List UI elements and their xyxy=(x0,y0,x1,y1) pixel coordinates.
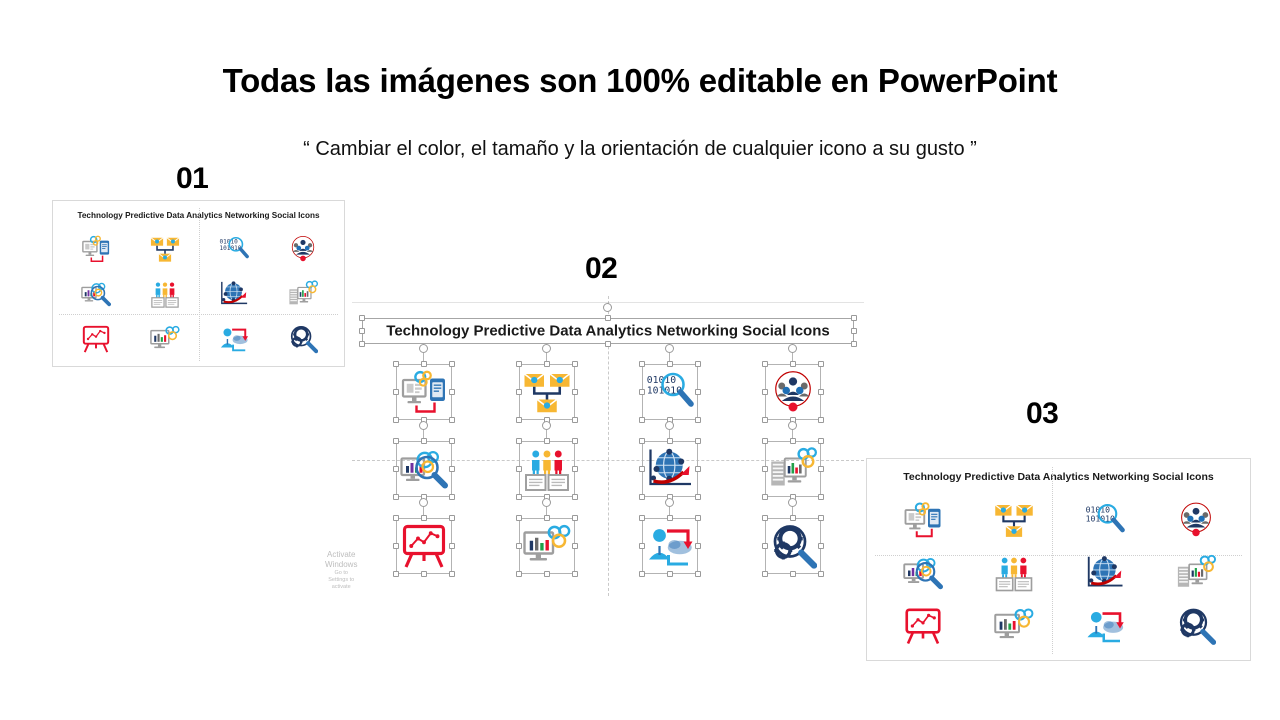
server-analytics-gears-icon xyxy=(1151,546,1242,599)
resize-handle-nw[interactable] xyxy=(516,515,522,521)
resize-handle-s[interactable] xyxy=(421,571,427,577)
people-book-icon[interactable] xyxy=(485,431,608,508)
monitor-mobile-gears-icon xyxy=(877,493,968,546)
rotation-stem xyxy=(669,430,670,438)
resize-handle-nw[interactable] xyxy=(639,361,645,367)
barchart-magnifier-icon xyxy=(877,546,968,599)
resize-handle-sw[interactable] xyxy=(639,571,645,577)
monitor-mobile-gears-icon xyxy=(61,227,130,272)
people-book-icon xyxy=(968,546,1059,599)
resize-handle-sw[interactable] xyxy=(393,571,399,577)
selected-shape[interactable] xyxy=(646,522,694,570)
selected-shape[interactable] xyxy=(523,522,571,570)
resize-handle-w[interactable] xyxy=(639,466,645,472)
panel-title-03: Technology Predictive Data Analytics Net… xyxy=(867,471,1250,483)
resize-handle-se[interactable] xyxy=(572,494,578,500)
resize-handle-se[interactable] xyxy=(572,417,578,423)
step-number-03: 03 xyxy=(1026,397,1058,431)
resize-handle-sw[interactable] xyxy=(516,417,522,423)
people-book-icon xyxy=(130,272,199,317)
selected-shape[interactable] xyxy=(769,445,817,493)
resize-handle-nw[interactable] xyxy=(516,438,522,444)
resize-handle-se[interactable] xyxy=(695,571,701,577)
rotation-handle[interactable] xyxy=(419,498,428,507)
binary-data-magnifier-icon: 01010 101010 xyxy=(1060,493,1151,546)
selected-shape[interactable]: 01010 101010 xyxy=(646,368,694,416)
rotation-handle[interactable] xyxy=(788,498,797,507)
selected-shape[interactable] xyxy=(400,522,448,570)
barchart-magnifier-icon[interactable] xyxy=(362,431,485,508)
barchart-magnifier-icon xyxy=(61,272,130,317)
resize-handle-e[interactable] xyxy=(572,389,578,395)
page-title: Todas las imágenes son 100% editable en … xyxy=(0,62,1280,100)
selected-shape[interactable] xyxy=(769,368,817,416)
rotation-handle[interactable] xyxy=(542,344,551,353)
resize-handle-ne[interactable] xyxy=(818,515,824,521)
resize-handle-sw[interactable] xyxy=(516,571,522,577)
resize-handle-ne[interactable] xyxy=(818,361,824,367)
rotation-handle[interactable] xyxy=(542,498,551,507)
resize-handle-e[interactable] xyxy=(449,466,455,472)
resize-handle-w[interactable] xyxy=(393,466,399,472)
step-number-02: 02 xyxy=(585,252,617,286)
resize-handle-nw[interactable] xyxy=(393,515,399,521)
icon-grid-03: 01010 101010 xyxy=(877,493,1242,653)
rotation-handle[interactable] xyxy=(419,421,428,430)
resize-handle-sw[interactable] xyxy=(762,571,768,577)
resize-handle-n[interactable] xyxy=(667,515,673,521)
resize-handle-e[interactable] xyxy=(449,543,455,549)
rotation-stem xyxy=(669,353,670,361)
resize-handle-ne[interactable] xyxy=(818,438,824,444)
icon-grid-01: 01010 101010 xyxy=(61,227,338,361)
server-analytics-gears-icon[interactable] xyxy=(731,431,854,508)
resize-handle-se[interactable] xyxy=(851,341,857,347)
resize-handle-n[interactable] xyxy=(667,438,673,444)
resize-handle-sw[interactable] xyxy=(393,494,399,500)
rotation-handle[interactable] xyxy=(419,344,428,353)
resize-handle-sw[interactable] xyxy=(516,494,522,500)
resize-handle-s[interactable] xyxy=(790,571,796,577)
resize-handle-sw[interactable] xyxy=(393,417,399,423)
binary-data-magnifier-icon[interactable]: 01010 101010 xyxy=(608,354,731,431)
resize-handle-e[interactable] xyxy=(695,543,701,549)
rotation-stem xyxy=(423,430,424,438)
resize-handle-ne[interactable] xyxy=(695,361,701,367)
resize-handle-w[interactable] xyxy=(516,466,522,472)
rotation-stem xyxy=(546,507,547,515)
resize-handle-nw[interactable] xyxy=(516,361,522,367)
icon-panel-preview-03[interactable]: Technology Predictive Data Analytics Net… xyxy=(866,458,1251,661)
resize-handle-ne[interactable] xyxy=(572,438,578,444)
resize-handle-ne[interactable] xyxy=(851,315,857,321)
rotation-handle[interactable] xyxy=(603,303,612,312)
resize-handle-se[interactable] xyxy=(449,494,455,500)
selected-shape[interactable] xyxy=(769,522,817,570)
businessman-cloud-icon xyxy=(200,316,269,361)
resize-handle-nw[interactable] xyxy=(393,361,399,367)
resize-handle-s[interactable] xyxy=(605,341,611,347)
rotation-handle[interactable] xyxy=(665,344,674,353)
resize-handle-se[interactable] xyxy=(695,494,701,500)
icon-panel-editing-02[interactable]: Technology Predictive Data Analytics Net… xyxy=(352,296,864,596)
resize-handle-w[interactable] xyxy=(639,543,645,549)
resize-handle-ne[interactable] xyxy=(572,361,578,367)
gears-magnifier-icon xyxy=(269,316,338,361)
resize-handle-sw[interactable] xyxy=(762,417,768,423)
rotation-stem xyxy=(546,430,547,438)
resize-handle-s[interactable] xyxy=(667,571,673,577)
resize-handle-w[interactable] xyxy=(762,466,768,472)
resize-handle-se[interactable] xyxy=(818,417,824,423)
resize-handle-ne[interactable] xyxy=(695,438,701,444)
selected-title-textbox[interactable]: Technology Predictive Data Analytics Net… xyxy=(362,318,854,344)
resize-handle-e[interactable] xyxy=(695,389,701,395)
resize-handle-w[interactable] xyxy=(393,389,399,395)
rotation-stem xyxy=(792,353,793,361)
resize-handle-e[interactable] xyxy=(818,466,824,472)
resize-handle-e[interactable] xyxy=(572,466,578,472)
selected-shape[interactable] xyxy=(523,445,571,493)
resize-handle-sw[interactable] xyxy=(639,417,645,423)
resize-handle-ne[interactable] xyxy=(449,515,455,521)
globe-growth-chart-icon[interactable] xyxy=(608,431,731,508)
businessman-cloud-icon[interactable] xyxy=(608,507,731,584)
icon-grid-02: 01010 101010 xyxy=(362,354,854,584)
resize-handle-e[interactable] xyxy=(572,543,578,549)
team-target-icon xyxy=(1151,493,1242,546)
monitor-mobile-gears-icon[interactable] xyxy=(362,354,485,431)
team-target-icon[interactable] xyxy=(731,354,854,431)
rotation-stem xyxy=(669,507,670,515)
resize-handle-se[interactable] xyxy=(449,417,455,423)
resize-handle-se[interactable] xyxy=(449,571,455,577)
gears-magnifier-icon[interactable] xyxy=(731,507,854,584)
rotation-stem xyxy=(546,353,547,361)
rotation-handle[interactable] xyxy=(788,421,797,430)
resize-handle-se[interactable] xyxy=(572,571,578,577)
easel-line-chart-icon xyxy=(61,316,130,361)
email-network-icon[interactable] xyxy=(485,354,608,431)
resize-handle-se[interactable] xyxy=(818,494,824,500)
gears-magnifier-icon xyxy=(1151,600,1242,653)
monitor-bars-gears-icon xyxy=(130,316,199,361)
resize-handle-ne[interactable] xyxy=(572,515,578,521)
rotation-stem xyxy=(423,353,424,361)
resize-handle-w[interactable] xyxy=(762,389,768,395)
team-target-icon xyxy=(269,227,338,272)
resize-handle-nw[interactable] xyxy=(762,438,768,444)
resize-handle-n[interactable] xyxy=(790,361,796,367)
resize-handle-w[interactable] xyxy=(516,389,522,395)
rotation-stem xyxy=(792,430,793,438)
rotation-handle[interactable] xyxy=(542,421,551,430)
email-network-icon xyxy=(968,493,1059,546)
resize-handle-nw[interactable] xyxy=(762,515,768,521)
resize-handle-n[interactable] xyxy=(790,515,796,521)
rotation-handle[interactable] xyxy=(665,498,674,507)
resize-handle-ne[interactable] xyxy=(695,515,701,521)
easel-line-chart-icon xyxy=(877,600,968,653)
resize-handle-n[interactable] xyxy=(544,515,550,521)
resize-handle-ne[interactable] xyxy=(449,361,455,367)
resize-handle-n[interactable] xyxy=(544,438,550,444)
resize-handle-w[interactable] xyxy=(393,543,399,549)
binary-data-magnifier-icon: 01010 101010 xyxy=(200,227,269,272)
resize-handle-e[interactable] xyxy=(818,543,824,549)
resize-handle-n[interactable] xyxy=(790,438,796,444)
selected-shape[interactable] xyxy=(523,368,571,416)
resize-handle-n[interactable] xyxy=(605,315,611,321)
resize-handle-s[interactable] xyxy=(544,571,550,577)
email-network-icon xyxy=(130,227,199,272)
icon-panel-preview-01[interactable]: Technology Predictive Data Analytics Net… xyxy=(52,200,345,367)
resize-handle-w[interactable] xyxy=(359,328,365,334)
resize-handle-w[interactable] xyxy=(762,543,768,549)
globe-growth-chart-icon xyxy=(200,272,269,317)
rotation-stem xyxy=(423,507,424,515)
server-analytics-gears-icon xyxy=(269,272,338,317)
resize-handle-se[interactable] xyxy=(818,571,824,577)
resize-handle-ne[interactable] xyxy=(449,438,455,444)
resize-handle-nw[interactable] xyxy=(639,438,645,444)
resize-handle-n[interactable] xyxy=(421,515,427,521)
resize-handle-sw[interactable] xyxy=(639,494,645,500)
resize-handle-se[interactable] xyxy=(695,417,701,423)
selected-shape[interactable] xyxy=(400,368,448,416)
businessman-cloud-icon xyxy=(1060,600,1151,653)
resize-handle-w[interactable] xyxy=(639,389,645,395)
resize-handle-e[interactable] xyxy=(449,389,455,395)
panel-title-02: Technology Predictive Data Analytics Net… xyxy=(363,323,853,340)
resize-handle-nw[interactable] xyxy=(762,361,768,367)
resize-handle-sw[interactable] xyxy=(359,341,365,347)
resize-handle-n[interactable] xyxy=(421,438,427,444)
selected-shape[interactable] xyxy=(646,445,694,493)
resize-handle-e[interactable] xyxy=(818,389,824,395)
page-subtitle: “ Cambiar el color, el tamaño y la orien… xyxy=(0,138,1280,161)
resize-handle-e[interactable] xyxy=(851,328,857,334)
resize-handle-n[interactable] xyxy=(421,361,427,367)
resize-handle-nw[interactable] xyxy=(393,438,399,444)
easel-line-chart-icon[interactable] xyxy=(362,507,485,584)
rotation-handle[interactable] xyxy=(665,421,674,430)
resize-handle-w[interactable] xyxy=(516,543,522,549)
step-number-01: 01 xyxy=(176,162,208,196)
rotation-handle[interactable] xyxy=(788,344,797,353)
resize-handle-nw[interactable] xyxy=(359,315,365,321)
resize-handle-e[interactable] xyxy=(695,466,701,472)
resize-handle-n[interactable] xyxy=(544,361,550,367)
resize-handle-nw[interactable] xyxy=(639,515,645,521)
monitor-bars-gears-icon xyxy=(968,600,1059,653)
monitor-bars-gears-icon[interactable] xyxy=(485,507,608,584)
rotation-stem xyxy=(792,507,793,515)
resize-handle-sw[interactable] xyxy=(762,494,768,500)
globe-growth-chart-icon xyxy=(1060,546,1151,599)
slide-canvas: Todas las imágenes son 100% editable en … xyxy=(0,0,1280,720)
selected-shape[interactable] xyxy=(400,445,448,493)
resize-handle-n[interactable] xyxy=(667,361,673,367)
